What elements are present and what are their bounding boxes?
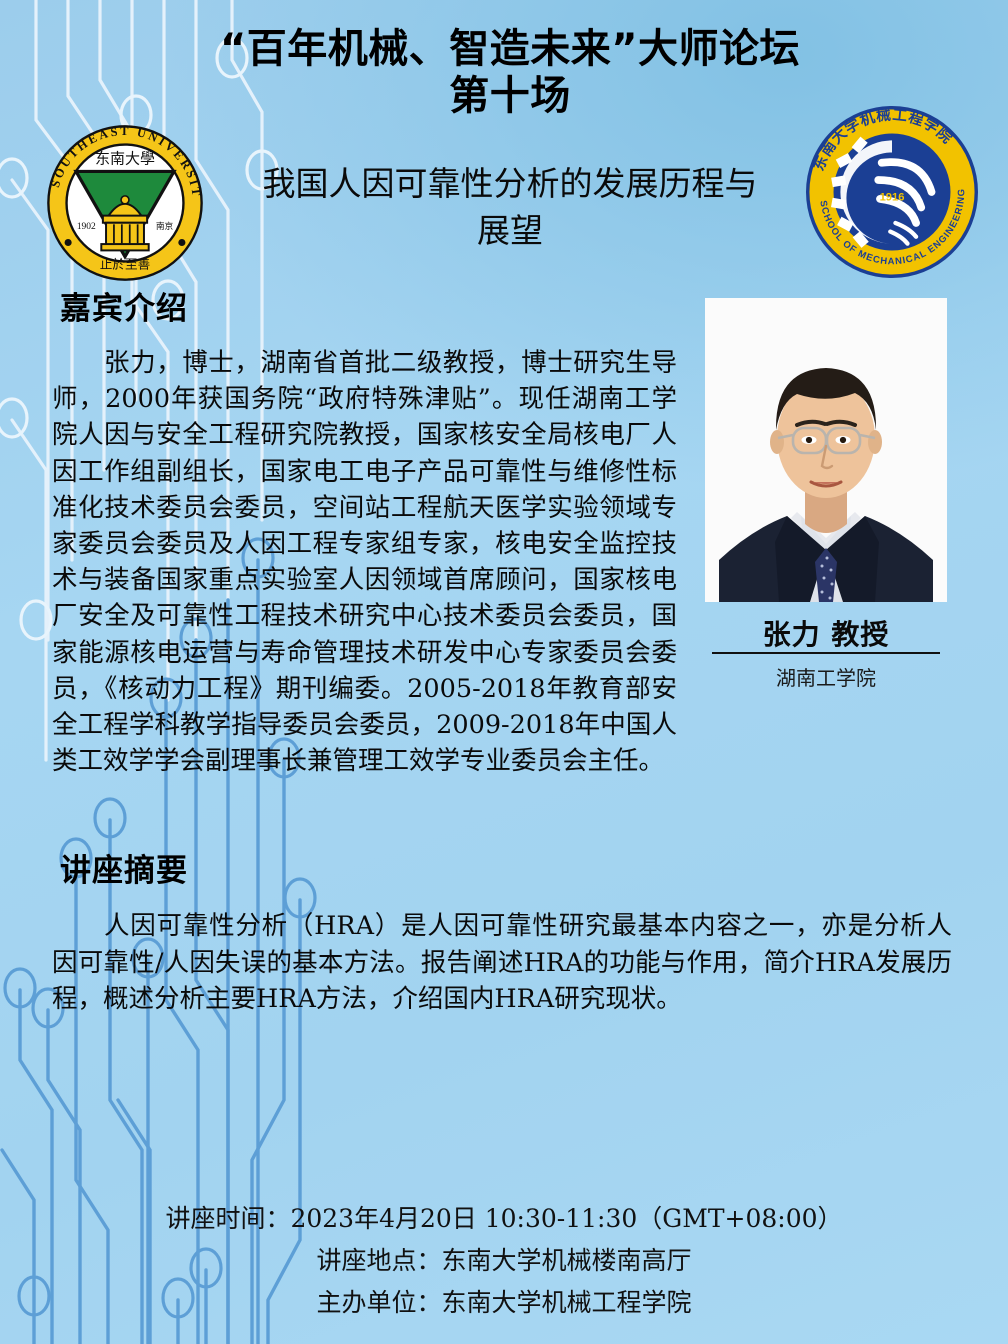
page-title: “百年机械、智造未来”大师论坛 第十场 <box>190 26 830 120</box>
svg-text:南京: 南京 <box>156 220 174 232</box>
speaker-divider <box>712 652 940 654</box>
guest-bio-text: 张力，博士，湖南省首批二级教授，博士研究生导师，2000年获国务院“政府特殊津贴… <box>52 345 677 779</box>
subtitle-block: 我国人因可靠性分析的发展历程与 展望 <box>210 160 810 254</box>
southeast-university-logo: SOUTHEAST UNIVERSITY 止於至善 东南大學 <box>46 124 204 282</box>
lecture-time: 讲座时间：2023年4月20日 10:30-11:30（GMT+08:00） <box>0 1198 1008 1240</box>
guest-section-heading: 嘉宾介绍 <box>60 283 188 328</box>
abstract-text: 人因可靠性分析（HRA）是人因可靠性研究最基本内容之一，亦是分析人因可靠性/人因… <box>52 908 952 1018</box>
speaker-photo <box>705 298 947 602</box>
abstract-section-heading: 讲座摘要 <box>60 845 188 890</box>
poster-header: “百年机械、智造未来”大师论坛 第十场 我国人因可靠性分析的发展历程与 展望 S… <box>0 0 1008 285</box>
svg-text:东南大學: 东南大學 <box>95 150 155 168</box>
lecture-topic: 我国人因可靠性分析的发展历程与 展望 <box>210 160 810 254</box>
mechanical-engineering-school-logo: 东南大学机械工程学院 SCHOOL OF MECHANICAL ENGINEER… <box>806 106 978 278</box>
poster-footer: 讲座时间：2023年4月20日 10:30-11:30（GMT+08:00） 讲… <box>0 1198 1008 1324</box>
svg-text:1902: 1902 <box>77 222 96 232</box>
title-block: “百年机械、智造未来”大师论坛 第十场 <box>190 26 830 120</box>
lecture-place: 讲座地点：东南大学机械楼南高厅 <box>0 1240 1008 1282</box>
speaker-name: 张力 教授 <box>700 613 952 653</box>
lecture-organizer: 主办单位：东南大学机械工程学院 <box>0 1282 1008 1324</box>
svg-text:1916: 1916 <box>880 192 905 204</box>
speaker-affiliation: 湖南工学院 <box>700 662 952 691</box>
lecture-poster: “百年机械、智造未来”大师论坛 第十场 我国人因可靠性分析的发展历程与 展望 S… <box>0 0 1008 1344</box>
